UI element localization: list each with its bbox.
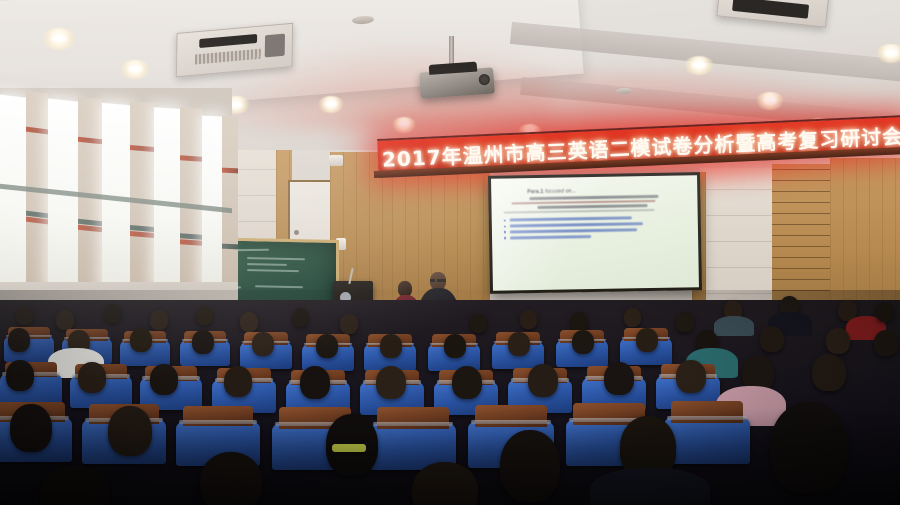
audience-head-foreground — [108, 406, 152, 456]
slide-bullet-item — [504, 228, 688, 234]
hair-tie — [332, 444, 366, 452]
ceiling-projector — [419, 67, 495, 98]
audience-head — [444, 334, 466, 358]
audience-head — [604, 362, 634, 395]
seat-trim — [667, 416, 746, 421]
audience-head — [520, 310, 537, 329]
seat-trim — [179, 420, 256, 424]
audience-head — [676, 360, 706, 393]
audience-head — [876, 302, 894, 322]
audience-head — [760, 326, 784, 352]
pier-stripe — [78, 137, 102, 145]
audience-head — [340, 314, 358, 334]
slide-bullet-list — [504, 216, 688, 240]
slide-text-line — [538, 204, 648, 208]
audience-head — [292, 308, 309, 327]
pier-stripe — [180, 239, 202, 246]
downlight-icon — [42, 28, 76, 50]
wall-panel-right-upper — [700, 168, 778, 320]
wall-pier — [180, 107, 202, 289]
audience-head — [192, 330, 214, 354]
slide-heading-label: Para.1 — [527, 189, 543, 195]
audience-head-foreground — [200, 452, 262, 505]
audience-head — [508, 332, 530, 356]
audience-head — [224, 366, 252, 397]
slide-text-line — [504, 209, 655, 214]
audience-head — [316, 334, 338, 358]
ac-grille — [732, 0, 809, 19]
pier-stripe — [222, 168, 238, 174]
bullet-icon — [504, 237, 506, 239]
glasses-icon — [430, 279, 446, 282]
audience-head — [826, 328, 850, 354]
audience-head — [196, 306, 213, 325]
ac-grille — [199, 34, 257, 48]
audience-head — [78, 362, 106, 393]
audience-head — [300, 366, 330, 399]
bullet-icon — [504, 225, 506, 227]
chalk-writing — [247, 257, 305, 260]
audience-head — [874, 330, 898, 356]
downlight-icon — [120, 60, 150, 79]
audience-head — [150, 310, 168, 330]
ac-grille-side — [265, 34, 285, 58]
pier-stripe — [130, 145, 154, 152]
downlight-icon — [684, 56, 714, 75]
bullet-icon — [504, 231, 506, 233]
audience-head — [570, 312, 588, 332]
chalk-writing — [255, 285, 303, 288]
audience-head — [252, 332, 274, 356]
audience-head — [150, 364, 178, 395]
audience-head — [380, 334, 402, 358]
audience-head — [8, 328, 30, 352]
seat-trim — [471, 420, 550, 425]
audience-head — [6, 360, 34, 391]
lecture-hall-photo: 2017年温州市高三英语二模试卷分析暨高考复习研讨会 Para.1 focuse… — [0, 0, 900, 505]
audience-head — [572, 330, 594, 354]
audience-head — [624, 308, 641, 327]
wall-pier — [222, 116, 238, 289]
audience-shoulder-foreground — [590, 468, 710, 505]
slide-bullet-item — [504, 222, 688, 228]
audience-head — [452, 366, 482, 399]
downlight-icon — [392, 117, 416, 133]
window-pane — [154, 107, 180, 287]
wall-mounted-box — [329, 155, 343, 166]
chalk-writing — [247, 263, 287, 266]
audience-head — [676, 312, 694, 332]
audience-head-foreground — [500, 430, 560, 502]
seat-trim — [373, 422, 452, 427]
audience-head-foreground — [10, 404, 52, 452]
audience-head — [528, 364, 558, 397]
projection-screen: Para.1 focused on... — [488, 172, 702, 294]
downlight-icon — [318, 96, 344, 113]
audience-head — [16, 306, 33, 325]
slide-text-line — [529, 195, 658, 200]
audience-head — [56, 310, 74, 330]
pier-stripe-dark — [222, 244, 238, 250]
projection-surface: Para.1 focused on... — [491, 175, 699, 291]
slide-heading: Para.1 focused on... — [527, 186, 687, 195]
window-pane — [202, 115, 222, 286]
bullet-icon — [504, 219, 506, 221]
slide-bullet-item — [504, 216, 688, 222]
downlight-icon — [876, 44, 900, 63]
wall-pier — [130, 101, 154, 289]
pier-stripe — [26, 127, 48, 135]
audience-head — [104, 304, 121, 323]
auditorium-seat — [664, 418, 750, 464]
pier-stripe — [130, 231, 154, 238]
audience-head — [812, 354, 846, 391]
audience-head — [636, 328, 658, 352]
slide-heading-rest: focused on... — [545, 188, 576, 195]
ac-vent — [195, 49, 261, 65]
downlight-icon — [756, 92, 784, 110]
audience-head-foreground — [770, 402, 848, 494]
audience-head — [130, 328, 152, 352]
audience-shoulder — [714, 316, 754, 336]
slide-bullet-item — [504, 234, 688, 240]
audience-head — [240, 312, 258, 332]
presentation-slide: Para.1 focused on... — [491, 175, 699, 291]
chalk-writing — [247, 269, 299, 272]
audience-head — [470, 314, 487, 333]
audience-head — [376, 366, 406, 399]
pier-stripe — [180, 155, 202, 162]
